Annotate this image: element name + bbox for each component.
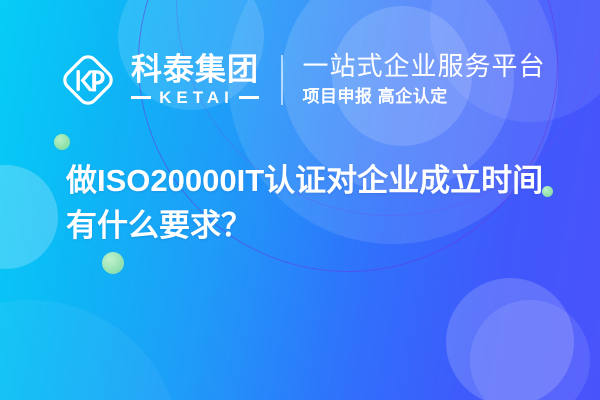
banner-header: 科泰集团 KETAI 一站式企业服务平台 项目申报 高企认定 <box>56 38 546 122</box>
brand-wordmark: 科泰集团 KETAI <box>131 54 259 105</box>
slogan-block: 一站式企业服务平台 项目申报 高企认定 <box>303 52 546 107</box>
header-divider <box>281 55 283 105</box>
decor-circle-left-edge <box>0 165 58 269</box>
article-title: 做ISO20000IT认证对企业成立时间 有什么要求？ <box>66 158 586 248</box>
brand-name-en-row: KETAI <box>131 89 259 106</box>
wordmark-rule-right <box>239 96 259 99</box>
brand-name-cn: 科泰集团 <box>131 54 259 86</box>
decor-circle-lower-right <box>446 278 574 400</box>
article-title-line-2: 有什么要求？ <box>66 203 586 248</box>
slogan-sub-text: 项目申报 高企认定 <box>303 86 546 107</box>
brand-name-en: KETAI <box>156 89 234 106</box>
article-title-line-1: 做ISO20000IT认证对企业成立时间 <box>66 158 586 203</box>
decor-circle-bottom-left <box>0 300 180 400</box>
wordmark-rule-left <box>131 96 151 99</box>
slogan-main-text: 一站式企业服务平台 <box>303 52 546 81</box>
ketai-kd-diamond-logo-icon <box>56 48 120 112</box>
decor-dot-green-large <box>102 252 124 274</box>
promo-banner: 科泰集团 KETAI 一站式企业服务平台 项目申报 高企认定 做ISO20000… <box>0 0 600 400</box>
decor-circle-lower-right-2 <box>470 300 590 400</box>
decor-dot-green-small-top <box>54 134 70 150</box>
brand-logo[interactable]: 科泰集团 KETAI <box>56 48 259 112</box>
